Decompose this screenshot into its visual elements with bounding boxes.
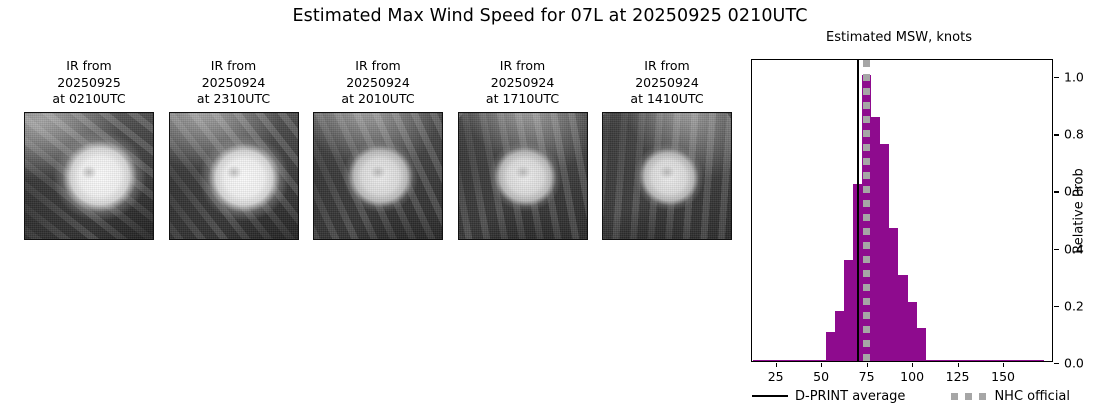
- chart-legend: D-PRINT averageNHC official: [752, 386, 1082, 406]
- histogram-bar: [889, 228, 898, 361]
- satellite-image-strip: IR from 20250925 at 0210UTCIR from 20250…: [24, 58, 736, 288]
- ir-panel-2-caption: IR from 20250924 at 2310UTC: [169, 58, 299, 108]
- ir-texture-layer: [170, 113, 298, 239]
- ir-panel-5-caption: IR from 20250924 at 1410UTC: [602, 58, 732, 108]
- plot-area: 2550751001251500.00.20.40.60.81.0: [751, 59, 1053, 362]
- ir-panel-1-image: [24, 112, 154, 240]
- y-axis-tick: [1054, 191, 1059, 192]
- histogram-bar: [762, 360, 771, 362]
- legend-solid-line-icon: [752, 395, 788, 397]
- histogram-bar: [807, 360, 816, 362]
- page-title: Estimated Max Wind Speed for 07L at 2025…: [0, 6, 1100, 26]
- histogram-bar: [789, 360, 798, 362]
- x-axis-tick: [867, 363, 868, 367]
- x-axis-tick: [958, 363, 959, 367]
- histogram-bar: [844, 260, 853, 361]
- ir-texture-layer: [459, 113, 587, 239]
- histogram-bar: [989, 360, 998, 362]
- y-axis-tick: [1054, 77, 1059, 78]
- x-axis-tick-label: 150: [991, 369, 1015, 384]
- y-axis-tick: [1054, 306, 1059, 307]
- y-axis-tick: [1054, 134, 1059, 135]
- histogram-bar: [926, 360, 935, 362]
- legend-item-2: NHC official: [951, 389, 1070, 404]
- x-axis-tick-label: 50: [813, 369, 829, 384]
- x-axis-tick: [776, 363, 777, 367]
- histogram-bar: [935, 360, 944, 362]
- ir-texture-layer: [603, 113, 731, 239]
- histogram-bar: [999, 360, 1008, 362]
- histogram-bar: [798, 360, 807, 362]
- histogram-bar: [1017, 360, 1026, 362]
- x-axis-tick: [1003, 363, 1004, 367]
- histogram-bar: [962, 360, 971, 362]
- x-axis-tick-label: 75: [859, 369, 875, 384]
- ir-panel-3-image: [313, 112, 443, 240]
- legend-label: D-PRINT average: [795, 389, 905, 404]
- legend-item-1: D-PRINT average: [752, 389, 905, 404]
- y-axis-tick-label: 0.0: [1064, 356, 1084, 371]
- ir-panel-5-image: [602, 112, 732, 240]
- histogram-bar: [917, 328, 926, 361]
- y-axis-tick-label: 0.2: [1064, 298, 1084, 313]
- histogram-bar: [908, 302, 917, 361]
- histogram-bar: [971, 360, 980, 362]
- x-axis-tick-label: 100: [900, 369, 924, 384]
- x-axis-tick: [912, 363, 913, 367]
- legend-dotted-line-icon: [951, 393, 987, 400]
- y-axis-tick-label: 1.0: [1064, 70, 1084, 85]
- histogram-bar: [753, 360, 762, 362]
- nhc-official-line: [863, 60, 870, 361]
- histogram-bar: [1035, 360, 1044, 362]
- histogram-bar: [780, 360, 789, 362]
- histogram-bar: [898, 275, 907, 361]
- histogram-bar: [826, 332, 835, 361]
- histogram-bar: [944, 360, 953, 362]
- ir-panel-4: IR from 20250924 at 1710UTC: [458, 58, 588, 240]
- ir-panel-4-image: [458, 112, 588, 240]
- legend-label: NHC official: [994, 389, 1070, 404]
- msw-histogram-chart: Estimated MSW, knots 2550751001251500.00…: [745, 30, 1095, 409]
- dprint-average-line: [857, 60, 859, 361]
- ir-panel-3: IR from 20250924 at 2010UTC: [313, 58, 443, 240]
- ir-panel-1: IR from 20250925 at 0210UTC: [24, 58, 154, 240]
- ir-texture-layer: [25, 113, 153, 239]
- histogram-bar: [980, 360, 989, 362]
- ir-panel-4-caption: IR from 20250924 at 1710UTC: [458, 58, 588, 108]
- ir-panel-2-image: [169, 112, 299, 240]
- ir-panel-3-caption: IR from 20250924 at 2010UTC: [313, 58, 443, 108]
- ir-panel-5: IR from 20250924 at 1410UTC: [602, 58, 732, 240]
- histogram-bars: [752, 60, 1052, 361]
- histogram-bar: [817, 360, 826, 362]
- histogram-bar: [871, 117, 880, 361]
- histogram-bar: [1026, 360, 1035, 362]
- histogram-bar: [880, 144, 889, 361]
- x-axis-tick: [821, 363, 822, 367]
- ir-panel-1-caption: IR from 20250925 at 0210UTC: [24, 58, 154, 108]
- x-axis-tick-label: 125: [946, 369, 970, 384]
- chart-title: Estimated MSW, knots: [745, 30, 1053, 45]
- histogram-bar: [1008, 360, 1017, 362]
- y-axis-tick-label: 0.8: [1064, 127, 1084, 142]
- ir-texture-layer: [314, 113, 442, 239]
- histogram-bar: [953, 360, 962, 362]
- ir-panel-2: IR from 20250924 at 2310UTC: [169, 58, 299, 240]
- histogram-bar: [835, 311, 844, 361]
- y-axis-tick: [1054, 363, 1059, 364]
- x-axis-tick-label: 25: [768, 369, 784, 384]
- histogram-bar: [771, 360, 780, 362]
- y-axis-title: Relative Prob: [1072, 168, 1087, 253]
- y-axis-tick: [1054, 249, 1059, 250]
